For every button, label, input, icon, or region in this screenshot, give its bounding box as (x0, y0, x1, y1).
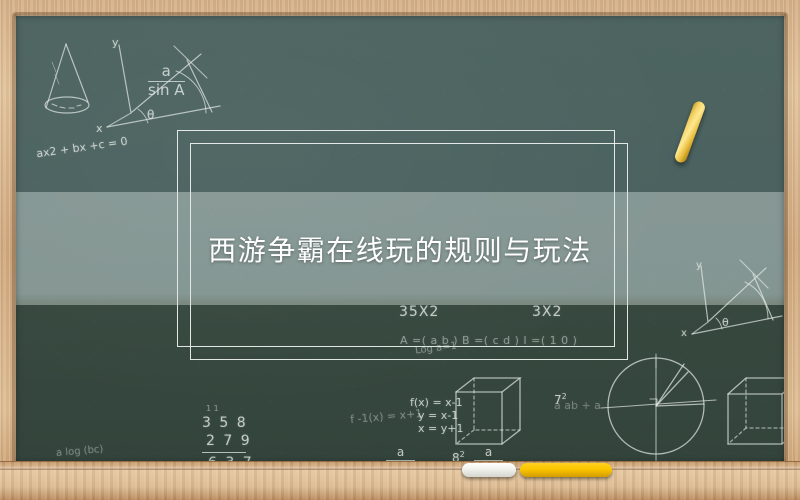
board-inner-shadow (14, 14, 786, 464)
chalk-tray-lip (0, 467, 800, 470)
chalk-stick-white-tray (462, 463, 516, 477)
chalkboard-banner: a sin A ax2 + bx +c = 0 y x θ y x θ f(x)… (0, 0, 800, 500)
chalk-stick-yellow-tray (520, 463, 612, 477)
